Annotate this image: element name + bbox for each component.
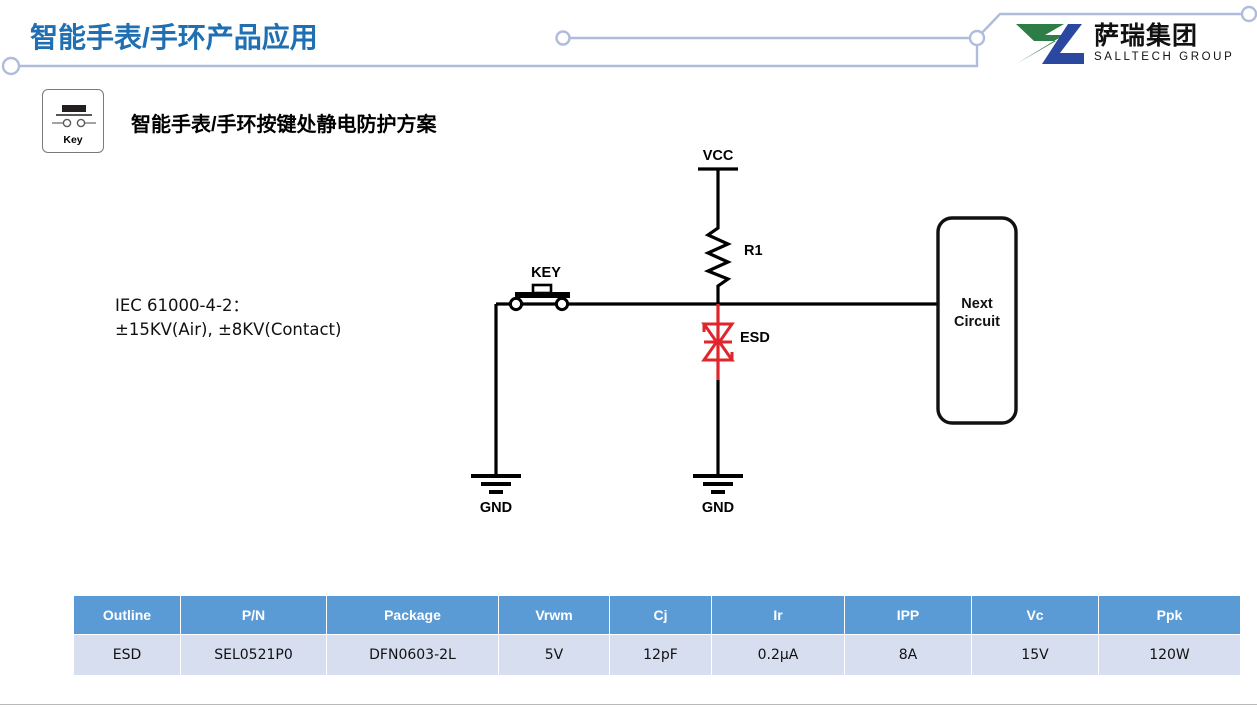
resistor-r1-symbol	[708, 224, 728, 304]
gnd-label-left: GND	[480, 500, 512, 516]
esd-protection-schematic: VCC R1 KEY GND ESD GND Next Circuit	[440, 140, 1060, 540]
table-col-package: Package	[327, 596, 499, 635]
brand-logo: 萨瑞集团 SALLTECH GROUP	[1012, 18, 1242, 70]
table-header-row: Outline P/N Package Vrwm Cj Ir IPP Vc Pp…	[74, 596, 1241, 635]
cell-cj: 12pF	[610, 635, 712, 676]
push-button-switch-icon	[50, 99, 98, 135]
key-switch-cap	[533, 285, 551, 293]
cell-ir: 0.2μA	[712, 635, 845, 676]
logo-text-block: 萨瑞集团 SALLTECH GROUP	[1094, 24, 1234, 64]
device-spec-table: Outline P/N Package Vrwm Cj Ir IPP Vc Pp…	[73, 595, 1241, 676]
gnd-symbol-right	[693, 476, 743, 492]
esd-label: ESD	[740, 330, 770, 346]
cell-ipp: 8A	[845, 635, 972, 676]
table-col-outline: Outline	[74, 596, 181, 635]
key-terminal-left	[510, 298, 521, 309]
page-title: 智能手表/手环产品应用	[30, 16, 318, 56]
gnd-symbol-left	[471, 476, 521, 492]
vcc-label: VCC	[703, 148, 734, 164]
table-col-vc: Vc	[972, 596, 1099, 635]
key-terminal-right	[556, 298, 567, 309]
table-row: ESD SEL0521P0 DFN0603-2L 5V 12pF 0.2μA 8…	[74, 635, 1241, 676]
cell-package: DFN0603-2L	[327, 635, 499, 676]
key-label: KEY	[531, 265, 561, 281]
iec-note-line-1: IEC 61000-4-2：	[115, 294, 341, 318]
footer-divider	[0, 704, 1257, 705]
table-col-ipp: IPP	[845, 596, 972, 635]
next-circuit-label-line1: Next	[961, 296, 993, 312]
logo-name-en: SALLTECH GROUP	[1094, 52, 1234, 64]
iec-standard-note: IEC 61000-4-2： ±15KV(Air), ±8KV(Contact)	[115, 294, 341, 342]
r1-label: R1	[744, 243, 763, 259]
table-col-pn: P/N	[181, 596, 327, 635]
table-col-vrwm: Vrwm	[499, 596, 610, 635]
next-circuit-label-line2: Circuit	[954, 314, 1000, 330]
cell-vc: 15V	[972, 635, 1099, 676]
table-col-cj: Cj	[610, 596, 712, 635]
table-col-ppk: Ppk	[1099, 596, 1241, 635]
cell-vrwm: 5V	[499, 635, 610, 676]
gnd-label-right: GND	[702, 500, 734, 516]
logo-name-cn: 萨瑞集团	[1094, 24, 1234, 49]
cell-ppk: 120W	[1099, 635, 1241, 676]
section-title: 智能手表/手环按键处静电防护方案	[131, 108, 437, 137]
key-icon-card: Key	[42, 89, 104, 153]
iec-note-line-2: ±15KV(Air), ±8KV(Contact)	[115, 318, 341, 342]
salltech-logo-mark	[1012, 22, 1086, 66]
cell-pn: SEL0521P0	[181, 635, 327, 676]
key-card-label: Key	[43, 134, 103, 146]
table-col-ir: Ir	[712, 596, 845, 635]
cell-outline: ESD	[74, 635, 181, 676]
